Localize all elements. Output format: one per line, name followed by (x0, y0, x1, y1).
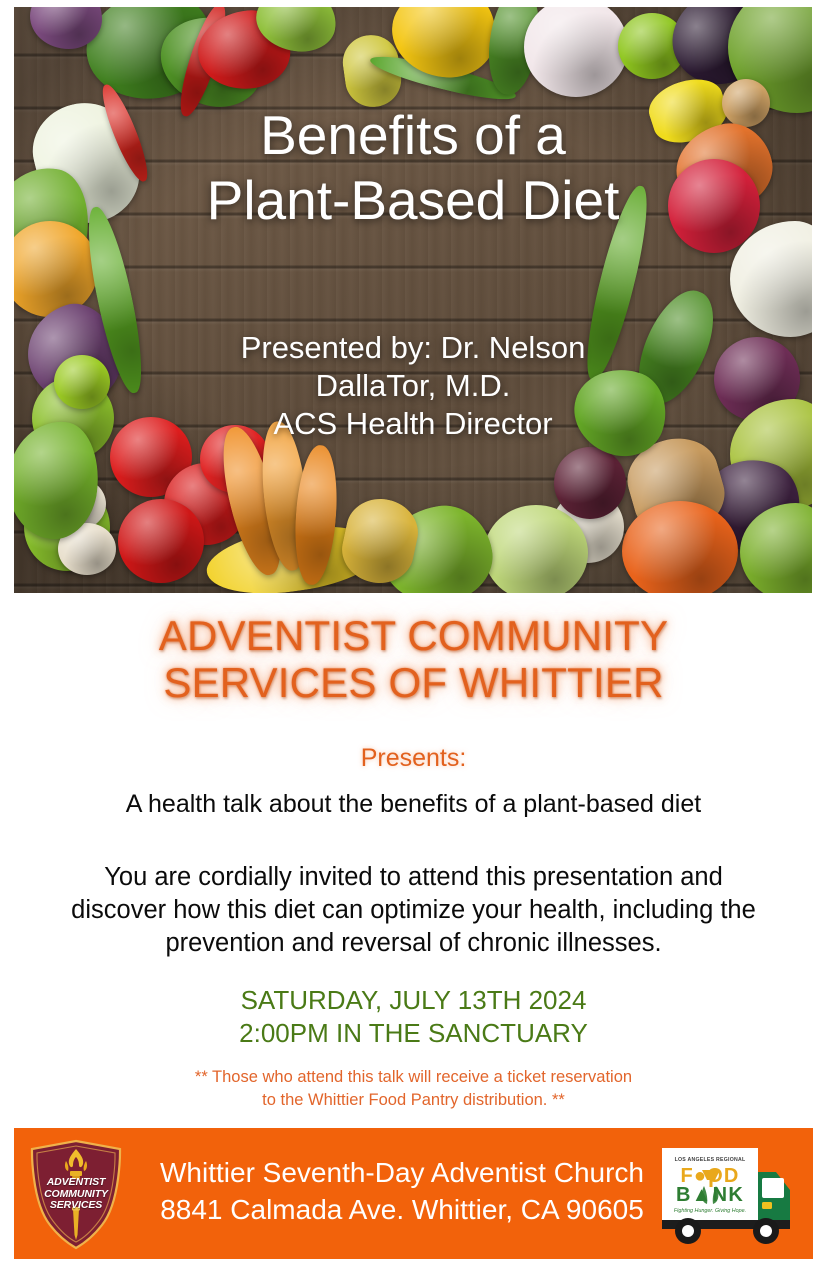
event-datetime: SATURDAY, JULY 13TH 2024 2:00PM IN THE S… (0, 984, 827, 1050)
acs-shield-label: ADVENTIST COMMUNITY SERVICES (28, 1177, 124, 1212)
hero-presenter: Presented by: Dr. Nelson DallaTor, M.D. … (14, 329, 812, 443)
talk-description: A health talk about the benefits of a pl… (0, 790, 827, 819)
ticket-reservation-note: ** Those who attend this talk will recei… (0, 1066, 827, 1112)
vegetable-border-frame (14, 7, 812, 593)
foodbank-region-label: LOS ANGELES REGIONAL (664, 1157, 756, 1163)
produce-radicchio (524, 7, 628, 97)
church-address: Whittier Seventh-Day Adventist Church 88… (142, 1154, 662, 1228)
organization-name: ADVENTIST COMMUNITY SERVICES OF WHITTIER (0, 612, 827, 706)
presents-label: Presents: (0, 744, 827, 773)
produce-pumpkin (622, 501, 738, 593)
foodbank-tagline: Fighting Hunger. Giving Hope. (664, 1208, 756, 1214)
foodbank-truck-logo: LOS ANGELES REGIONAL F●OD B▲NK Fighting … (658, 1142, 796, 1246)
invitation-text: You are cordially invited to attend this… (26, 861, 801, 960)
foodbank-word-bank: B▲NK (664, 1185, 756, 1205)
footer-bar: ADVENTIST COMMUNITY SERVICES Whittier Se… (14, 1128, 813, 1259)
foodbank-word-food: F●OD (664, 1166, 756, 1186)
acs-shield-logo: ADVENTIST COMMUNITY SERVICES (28, 1139, 124, 1250)
produce-tomato-cluster-3 (118, 499, 204, 583)
produce-kohlrabi (484, 505, 588, 593)
produce-beet (554, 447, 626, 519)
hero-produce-photo: Benefits of a Plant-Based Diet Presented… (14, 7, 812, 593)
hero-title: Benefits of a Plant-Based Diet (14, 103, 812, 233)
